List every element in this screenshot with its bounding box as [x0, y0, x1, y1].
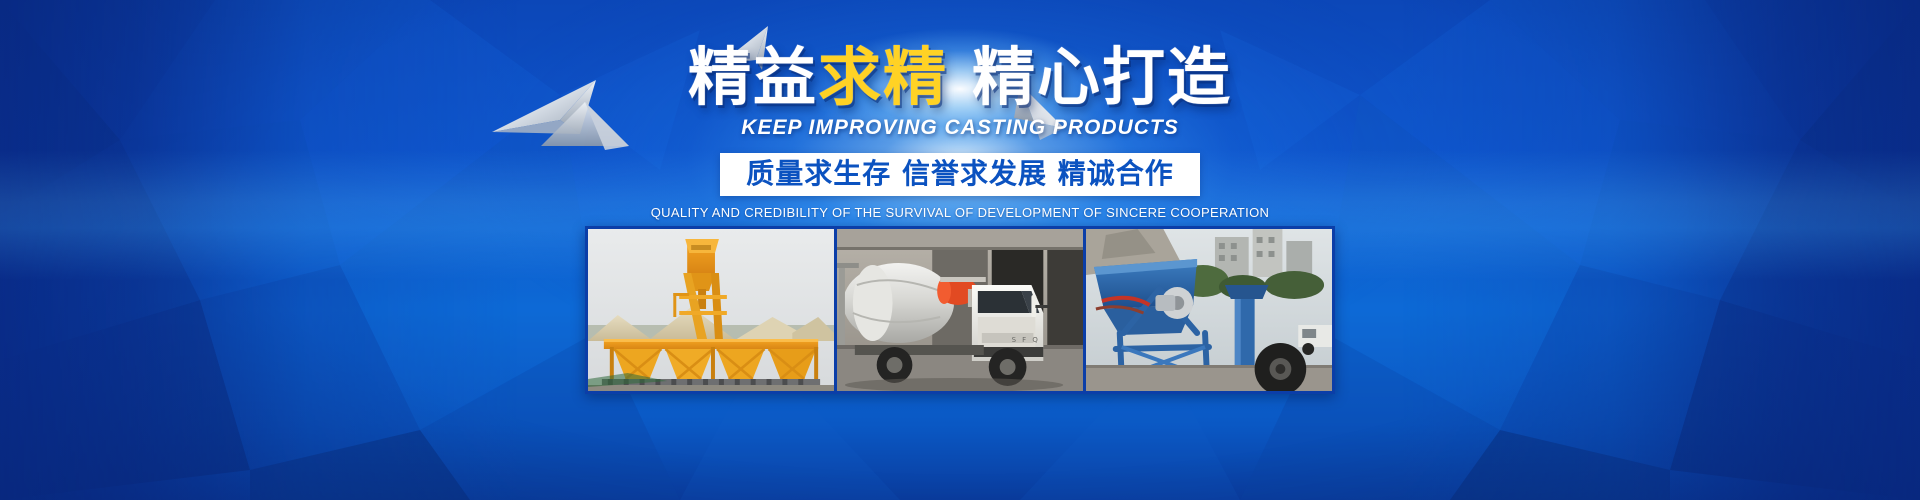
promotional-banner: 精益求精 精心打造 KEEP IMPROVING CASTING PRODUCT…: [0, 0, 1920, 500]
headline: 精益求精 精心打造: [0, 46, 1920, 109]
headline-part-3: 精心打造: [972, 41, 1232, 114]
concrete-batching-plant-photo[interactable]: Yellow concrete batching plant with aggr…: [588, 229, 834, 391]
photo-strip: Yellow concrete batching plant with aggr…: [585, 226, 1335, 394]
banner-text-block: 精益求精 精心打造 KEEP IMPROVING CASTING PRODUCT…: [0, 46, 1920, 220]
blue-batching-equipment-photo[interactable]: Blue concrete batching equipment outdoor…: [1086, 229, 1332, 391]
concrete-mixer-truck-photo[interactable]: S F Q White concrete mixer truck in a wo…: [837, 229, 1083, 391]
subtitle-english: KEEP IMPROVING CASTING PRODUCTS: [0, 116, 1920, 140]
headline-part-2: 求精: [818, 41, 948, 114]
slogan-chinese: 质量求生存 信誉求发展 精诚合作: [746, 157, 1174, 190]
slogan-white-bar: 质量求生存 信誉求发展 精诚合作: [720, 153, 1200, 196]
slogan-bar-wrapper: 质量求生存 信誉求发展 精诚合作: [0, 153, 1920, 196]
svg-text:S F Q: S F Q: [1012, 336, 1040, 344]
footer-english: QUALITY AND CREDIBILITY OF THE SURVIVAL …: [0, 205, 1920, 220]
headline-space: [948, 41, 972, 114]
headline-part-1: 精益: [688, 41, 818, 114]
